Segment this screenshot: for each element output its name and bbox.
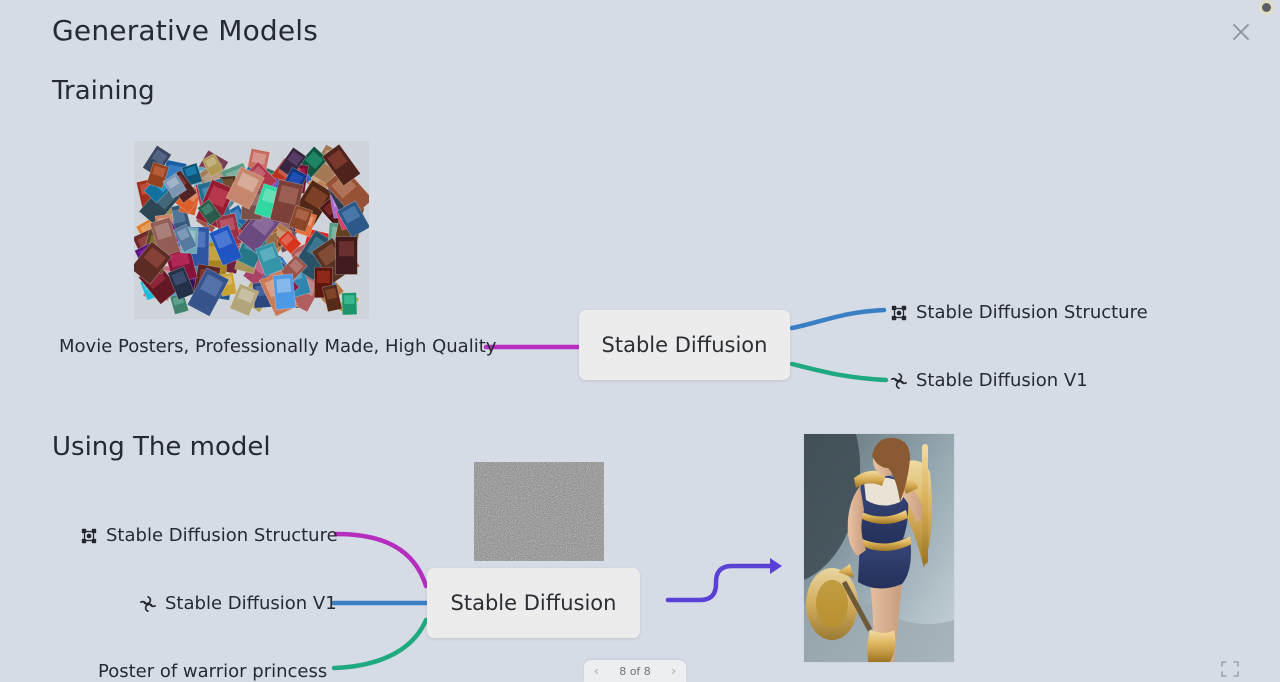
wire-training-output-v1 xyxy=(792,364,886,380)
wire-training-output-structure xyxy=(792,310,884,328)
fullscreen-button[interactable] xyxy=(1220,660,1240,678)
wire-using-input-prompt xyxy=(334,620,426,668)
wire-using-output xyxy=(668,566,772,600)
label-training-output-v1: Stable Diffusion V1 xyxy=(890,370,1088,391)
label-using-input-v1: Stable Diffusion V1 xyxy=(139,593,337,614)
label-training-input: Movie Posters, Professionally Made, High… xyxy=(59,336,496,357)
warrior-princess-art xyxy=(804,434,954,662)
arrowhead-icon xyxy=(770,558,782,574)
label-text: Stable Diffusion Structure xyxy=(916,302,1148,323)
label-text: Poster of warrior princess xyxy=(98,661,327,682)
chevron-left-icon[interactable]: ‹ xyxy=(594,664,599,678)
poster-collage-art xyxy=(134,141,369,319)
chevron-right-icon[interactable]: › xyxy=(671,664,676,678)
node-label: Stable Diffusion xyxy=(451,591,617,615)
wire-using-input-structure xyxy=(336,534,426,586)
node-stable-diffusion-training[interactable]: Stable Diffusion xyxy=(579,310,790,380)
label-using-input-prompt: Poster of warrior princess xyxy=(98,661,327,682)
label-text: Movie Posters, Professionally Made, High… xyxy=(59,336,496,357)
close-button[interactable] xyxy=(1224,15,1258,49)
node-label: Stable Diffusion xyxy=(602,333,768,357)
page-title: Generative Models xyxy=(52,14,318,47)
label-text: Stable Diffusion Structure xyxy=(106,525,338,546)
generated-output-image xyxy=(803,433,955,663)
section-heading-training: Training xyxy=(52,76,155,106)
slide-canvas: Generative Models Training Using The mod… xyxy=(0,0,1280,682)
noise-image xyxy=(474,462,604,561)
label-text: Stable Diffusion V1 xyxy=(916,370,1088,391)
page-indicator: 8 of 8 xyxy=(619,665,651,678)
weights-icon xyxy=(139,595,157,613)
structure-icon xyxy=(890,304,908,322)
close-icon xyxy=(1228,19,1254,45)
weights-icon xyxy=(890,372,908,390)
recording-dot xyxy=(1262,3,1271,12)
pagination-control[interactable]: ‹ 8 of 8 › xyxy=(584,660,686,682)
section-heading-using: Using The model xyxy=(52,432,271,462)
structure-icon xyxy=(80,527,98,545)
label-using-input-structure: Stable Diffusion Structure xyxy=(80,525,338,546)
poster-collage-image xyxy=(134,141,369,319)
noise-art xyxy=(474,462,604,561)
label-text: Stable Diffusion V1 xyxy=(165,593,337,614)
label-training-output-structure: Stable Diffusion Structure xyxy=(890,302,1148,323)
node-stable-diffusion-using[interactable]: Stable Diffusion xyxy=(427,568,640,638)
fullscreen-icon xyxy=(1220,660,1240,678)
